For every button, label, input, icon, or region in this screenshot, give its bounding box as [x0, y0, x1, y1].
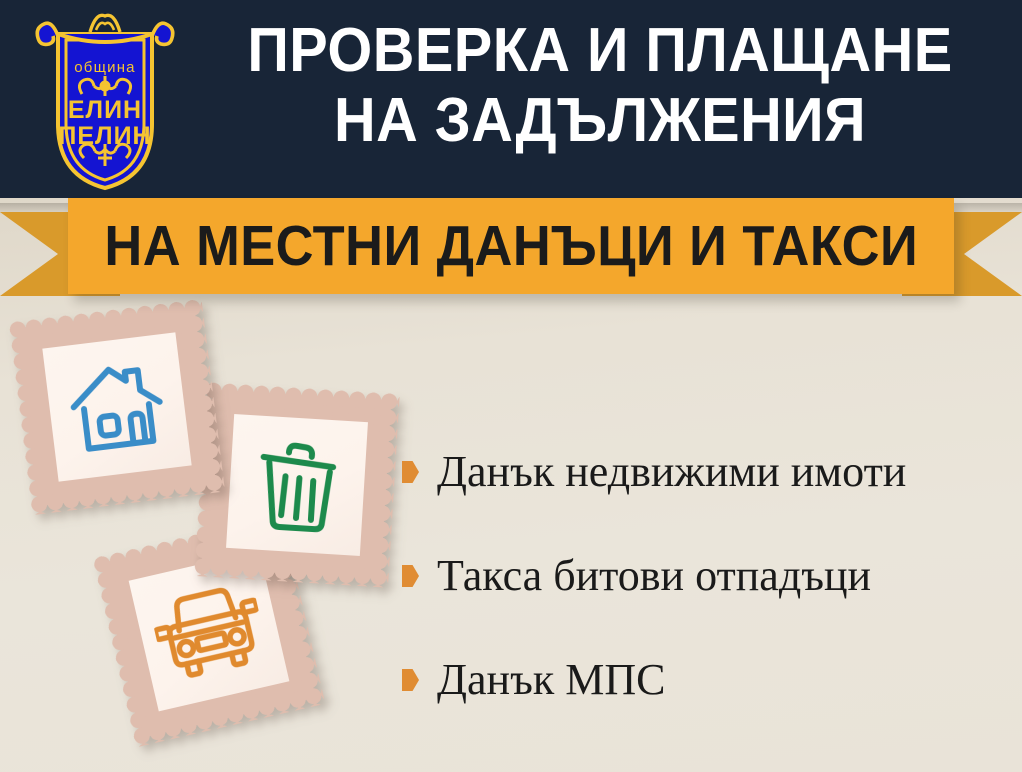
list-item-label: Такса битови отпадъци [437, 552, 871, 600]
stamp-card-waste [203, 391, 392, 580]
list-item[interactable]: Такса битови отпадъци [402, 524, 1012, 628]
arrow-bullet-icon [402, 461, 419, 483]
list-item-label: Данък недвижими имоти [437, 448, 906, 496]
crest-name-line1: ЕЛИН [68, 96, 142, 124]
ribbon-label: НА МЕСТНИ ДАНЪЦИ И ТАКСИ [104, 216, 918, 276]
ribbon-banner: НА МЕСТНИ ДАНЪЦИ И ТАКСИ [68, 198, 954, 294]
subtitle-ribbon: НА МЕСТНИ ДАНЪЦИ И ТАКСИ [0, 198, 1022, 310]
list-item[interactable]: Данък МПС [402, 628, 1012, 732]
page-title-line-2: НА ЗАДЪЛЖЕНИЯ [219, 86, 982, 156]
crest-name-line2: ПЕЛИН [58, 122, 151, 150]
car-icon [148, 578, 270, 684]
municipality-crest-logo: община ЕЛИН ПЕЛИН [30, 6, 180, 192]
page-title-line-1: ПРОВЕРКА И ПЛАЩАНЕ [219, 16, 982, 86]
stamp-inner-house [42, 332, 191, 481]
list-item-label: Данък МПС [437, 656, 665, 704]
obligations-list: Данък недвижими имоти Такса битови отпад… [402, 420, 1012, 732]
stamp-inner-waste [226, 414, 368, 556]
crest-svg: община ЕЛИН ПЕЛИН [30, 6, 180, 192]
header: община ЕЛИН ПЕЛИН ПРОВЕРКА И ПЛАЩАНЕ НА … [0, 0, 1022, 198]
page-title: ПРОВЕРКА И ПЛАЩАНЕ НА ЗАДЪЛЖЕНИЯ [190, 16, 1010, 156]
trash-can-icon [251, 434, 343, 535]
arrow-bullet-icon [402, 565, 419, 587]
list-item[interactable]: Данък недвижими имоти [402, 420, 1012, 524]
stamp-card-house [18, 308, 216, 506]
arrow-bullet-icon [402, 669, 419, 691]
poster-root: община ЕЛИН ПЕЛИН ПРОВЕРКА И ПЛАЩАНЕ НА … [0, 0, 1022, 772]
crest-municipality-label: община [74, 59, 135, 76]
house-icon [64, 355, 170, 458]
